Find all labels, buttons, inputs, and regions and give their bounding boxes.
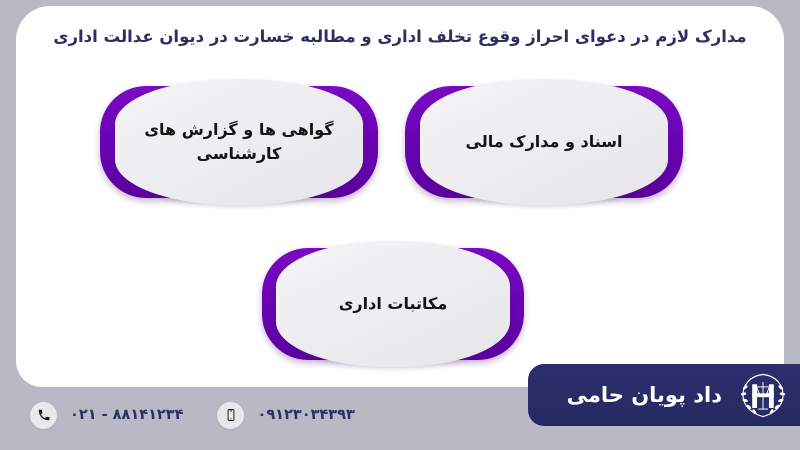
contact-item-mobile[interactable]: ۰۹۱۲۳۰۳۴۳۹۳ xyxy=(217,402,354,429)
node-face: مکاتبات اداری xyxy=(276,241,509,367)
node-label: گواهی ها و گزارش های کارشناسی xyxy=(115,118,362,166)
diagram-node-financial[interactable]: اسناد و مدارک مالی xyxy=(405,86,683,198)
phone-icon xyxy=(30,402,57,429)
diagram-node-correspondence[interactable]: مکاتبات اداری xyxy=(262,248,524,360)
node-face: اسناد و مدارک مالی xyxy=(420,79,667,205)
brand-name: داد پویان حامی xyxy=(567,383,722,407)
contact-strip: ۰۲۱ - ۸۸۱۴۱۲۳۴ ۰۹۱۲۳۰۳۴۳۹۳ xyxy=(30,398,389,432)
landline-number: ۰۲۱ - ۸۸۱۴۱۲۳۴ xyxy=(70,407,183,423)
diagram-node-expert-reports[interactable]: گواهی ها و گزارش های کارشناسی xyxy=(100,86,378,198)
node-label: اسناد و مدارک مالی xyxy=(450,130,639,154)
mobile-icon xyxy=(217,402,244,429)
brand-bar[interactable]: داد پویان حامی xyxy=(528,364,800,426)
node-label: مکاتبات اداری xyxy=(323,292,463,316)
mobile-number: ۰۹۱۲۳۰۳۴۳۹۳ xyxy=(257,407,354,423)
logo-emblem-icon xyxy=(736,369,790,421)
contact-item-landline[interactable]: ۰۲۱ - ۸۸۱۴۱۲۳۴ xyxy=(30,402,183,429)
node-face: گواهی ها و گزارش های کارشناسی xyxy=(115,79,362,205)
page-title: مدارک لازم در دعوای احراز وقوع تخلف ادار… xyxy=(24,26,776,48)
